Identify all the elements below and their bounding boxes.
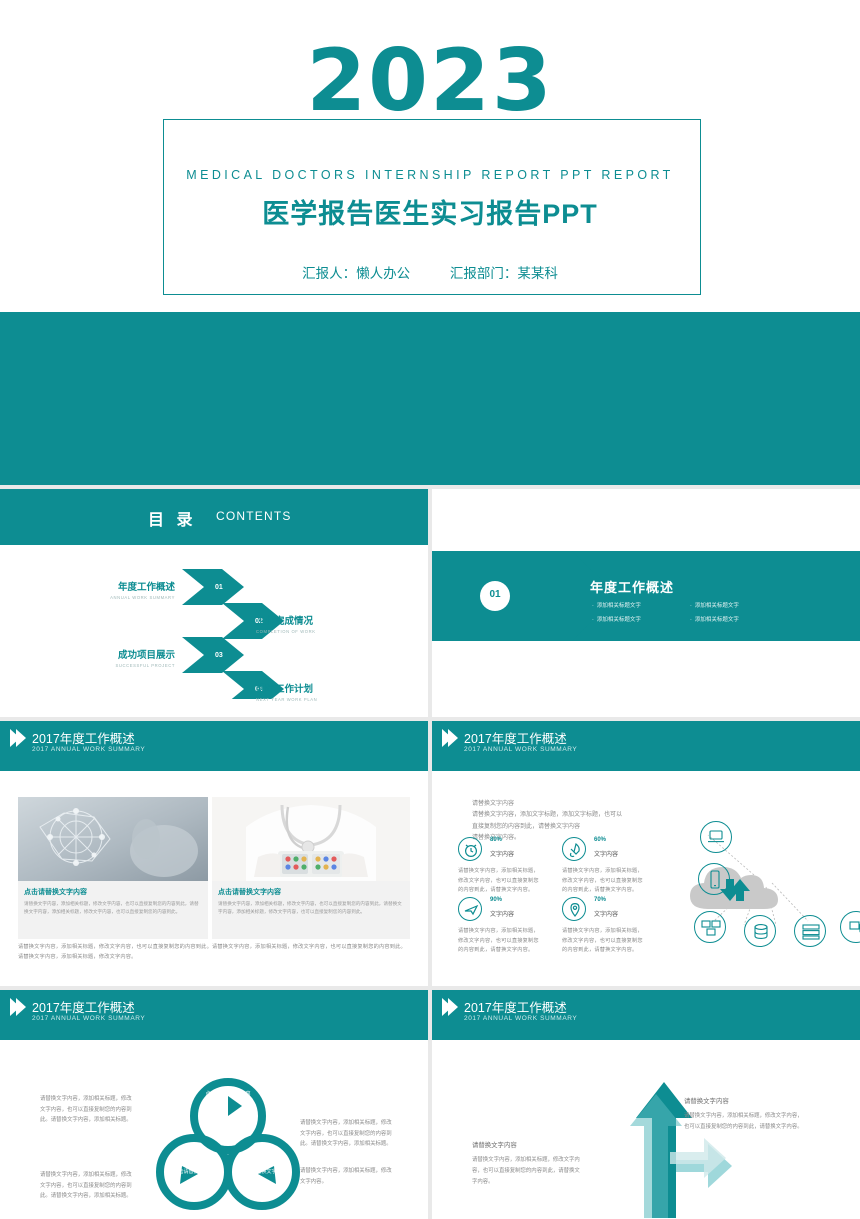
arrow-icon-2 [448, 729, 458, 747]
plane-icon [458, 897, 482, 921]
stat-1-desc: 请替换文字内容，添加相关标题，修改文字内容，也可以直接复制您的内容到此，请替换文… [458, 867, 544, 896]
contents-item-4-cn: 明年工作计划 [256, 684, 313, 695]
card-2-body: 请替换文字内容，添加相关标题，修改文字内容，也可以直接复制您的内容到此，请替换文… [218, 900, 404, 916]
phone-icon [698, 863, 730, 895]
arrow-icon-2 [16, 729, 26, 747]
cover-department: 汇报部门：某某科 [450, 266, 558, 281]
row-divider-1 [0, 717, 860, 721]
contents-band [0, 489, 428, 545]
arrow-icon-2 [448, 998, 458, 1016]
contents-title-en: CONTENTS [216, 509, 292, 523]
stat-1-label: 文字内容 [490, 849, 514, 858]
circles-text-3: 请替换文字内容，添加相关标题，修改文字内容，也可以直接复制您的内容到此。请替换文… [40, 1170, 136, 1202]
image-card-2: 点击请替换文字内容 请替换文字内容，添加相关标题，修改文字内容，也可以直接复制您… [212, 881, 410, 939]
contents-item-3-en: SUCCESSFUL PROJECT [95, 663, 175, 668]
contents-item-4[interactable]: 明年工作计划 NEXT YEAR WORK PLAN [256, 681, 356, 702]
arrows-block-1-body: 请替换文字内容，添加相关标题，修改文字内容，也可以直接复制您的内容到此，请替换文… [684, 1113, 803, 1130]
arrows-block-1-title: 请替换文字内容 [684, 1096, 804, 1108]
database-icon [744, 915, 776, 947]
rocket-icon [562, 837, 586, 861]
arrows-block-2-title: 请替换文字内容 [472, 1140, 582, 1152]
contents-item-3-cn: 成功项目展示 [118, 650, 175, 661]
section-number-badge: 01 [480, 581, 510, 611]
alarm-icon [458, 837, 482, 861]
section-bullet-3: 添加相关标题文字 [592, 615, 641, 623]
arrow-icon-2 [16, 998, 26, 1016]
cover-title-cn: 医学报告医生实习报告PPT [0, 192, 860, 231]
cloud-header-en: 2017 ANNUAL WORK SUMMARY [464, 746, 577, 753]
slide-cloud: 2017年度工作概述 2017 ANNUAL WORK SUMMARY 请替换文… [432, 721, 860, 986]
contents-item-2-cn: 工作完成情况 [256, 616, 313, 627]
row-divider-0 [0, 485, 860, 489]
stat-2-label: 文字内容 [594, 849, 618, 858]
contents-item-1-cn: 年度工作概述 [118, 582, 175, 593]
images-header-en: 2017 ANNUAL WORK SUMMARY [32, 746, 145, 753]
arrows-header-en: 2017 ANNUAL WORK SUMMARY [464, 1015, 577, 1022]
slide-arrows: 2017年度工作概述 2017 ANNUAL WORK SUMMARY 请替换文… [432, 990, 860, 1219]
slide-circles: 2017年度工作概述 2017 ANNUAL WORK SUMMARY 点击请替… [0, 990, 428, 1219]
photo-doctor-pills [212, 797, 410, 881]
stat-3-label: 文字内容 [490, 909, 514, 918]
stat-3-pct: 90% [490, 897, 502, 903]
servers-icon [694, 911, 726, 943]
contents-num-01: 01 [215, 584, 223, 591]
contents-num-03: 03 [215, 652, 223, 659]
row-divider-2 [0, 986, 860, 990]
cloud-header-cn: 2017年度工作概述 [464, 728, 567, 747]
section-bullet-4: 添加相关标题文字 [690, 615, 739, 623]
stat-2-pct: 60% [594, 837, 606, 843]
arrows-block-2: 请替换文字内容 请替换文字内容，添加相关标题，修改文字内容，也可以直接复制您的内… [472, 1140, 582, 1187]
three-ring-graphic [148, 1062, 308, 1214]
contents-item-3[interactable]: 成功项目展示 SUCCESSFUL PROJECT [95, 647, 175, 668]
contents-item-1-en: ANNUAL WORK SUMMARY [95, 595, 175, 600]
images-footer-text: 请替换文字内容，添加相关标题，修改文字内容，也可以直接复制您的内容到此。请替换文… [18, 943, 410, 962]
images-header-cn: 2017年度工作概述 [32, 728, 135, 747]
section-bullet-1: 添加相关标题文字 [592, 601, 641, 609]
ring-label-2: 点击请替换文字内容 [164, 1168, 228, 1175]
stat-4-pct: 70% [594, 897, 606, 903]
arrows-block-1: 请替换文字内容 请替换文字内容，添加相关标题，修改文字内容，也可以直接复制您的内… [684, 1096, 804, 1133]
circles-header-en: 2017 ANNUAL WORK SUMMARY [32, 1015, 145, 1022]
contents-title-cn: 目 录 [148, 506, 196, 530]
column-divider [428, 489, 432, 1219]
arrows-block-2-body: 请替换文字内容，添加相关标题，修改文字内容，也可以直接复制您的内容到此，请替换文… [472, 1157, 580, 1184]
card-1-title: 点击请替换文字内容 [24, 887, 208, 897]
cover-year: 2023 [0, 38, 860, 124]
ppt-template-preview: 2023 MEDICAL DOCTORS INTERNSHIP REPORT P… [0, 0, 860, 1219]
circles-header-cn: 2017年度工作概述 [32, 997, 135, 1016]
image-card-1: 点击请替换文字内容 请替换文字内容，添加相关标题，修改文字内容，也可以直接复制您… [18, 881, 208, 939]
stat-1-pct: 80% [490, 837, 502, 843]
stack-icon [794, 915, 826, 947]
card-2-title: 点击请替换文字内容 [218, 887, 410, 897]
slide-contents: 目 录 CONTENTS 01 02 03 04 年度工作概述 ANNUAL W… [0, 489, 428, 717]
card-1-body: 请替换文字内容，添加相关标题，修改文字内容，也可以直接复制您的内容到此，请替换文… [24, 900, 202, 916]
contents-item-2-en: COMPLETION OF WORK [256, 629, 356, 634]
contents-item-4-en: NEXT YEAR WORK PLAN [256, 697, 356, 702]
stat-4-label: 文字内容 [594, 909, 618, 918]
contents-item-2[interactable]: 工作完成情况 COMPLETION OF WORK [256, 613, 356, 634]
location-icon [562, 897, 586, 921]
laptop-icon [700, 821, 732, 853]
arrows-graphic [592, 1052, 732, 1218]
section-heading: 年度工作概述 [590, 577, 674, 596]
ring-label-1: 点击请替换文字内容 [196, 1090, 260, 1097]
cover-meta: 汇报人：懒人办公 汇报部门：某某科 [0, 262, 860, 282]
ring-label-3: 点击请替换文字内容 [232, 1168, 296, 1175]
cover-subtitle-en: MEDICAL DOCTORS INTERNSHIP REPORT PPT RE… [0, 168, 860, 182]
photo-molecule [18, 797, 208, 881]
cover-color-band [0, 312, 860, 485]
cloud-icon [682, 859, 790, 917]
stat-4-desc: 请替换文字内容，添加相关标题，修改文字内容，也可以直接复制您的内容到此，请替换文… [562, 927, 648, 956]
circles-text-2: 请替换文字内容，添加相关标题，修改文字内容，也可以直接复制您的内容到此。请替换文… [300, 1118, 396, 1150]
section-number: 01 [480, 589, 510, 600]
slide-section-divider: 01 年度工作概述 添加相关标题文字 添加相关标题文字 添加相关标题文字 添加相… [432, 489, 860, 717]
stat-3-desc: 请替换文字内容，添加相关标题，修改文字内容，也可以直接复制您的内容到此，请替换文… [458, 927, 544, 956]
cover-reporter: 汇报人：懒人办公 [302, 266, 410, 281]
contents-item-1[interactable]: 年度工作概述 ANNUAL WORK SUMMARY [95, 579, 175, 600]
circles-text-1: 请替换文字内容，添加相关标题，修改文字内容，也可以直接复制您的内容到此。请替换文… [40, 1094, 136, 1126]
stat-2-desc: 请替换文字内容，添加相关标题，修改文字内容，也可以直接复制您的内容到此，请替换文… [562, 867, 648, 896]
slide-cover: 2023 MEDICAL DOCTORS INTERNSHIP REPORT P… [0, 0, 860, 485]
slide-images: 2017年度工作概述 2017 ANNUAL WORK SUMMARY [0, 721, 428, 986]
circles-text-4: 请替换文字内容，添加相关标题，修改文字内容。 [300, 1166, 396, 1187]
section-bullet-2: 添加相关标题文字 [690, 601, 739, 609]
arrows-header-cn: 2017年度工作概述 [464, 997, 567, 1016]
